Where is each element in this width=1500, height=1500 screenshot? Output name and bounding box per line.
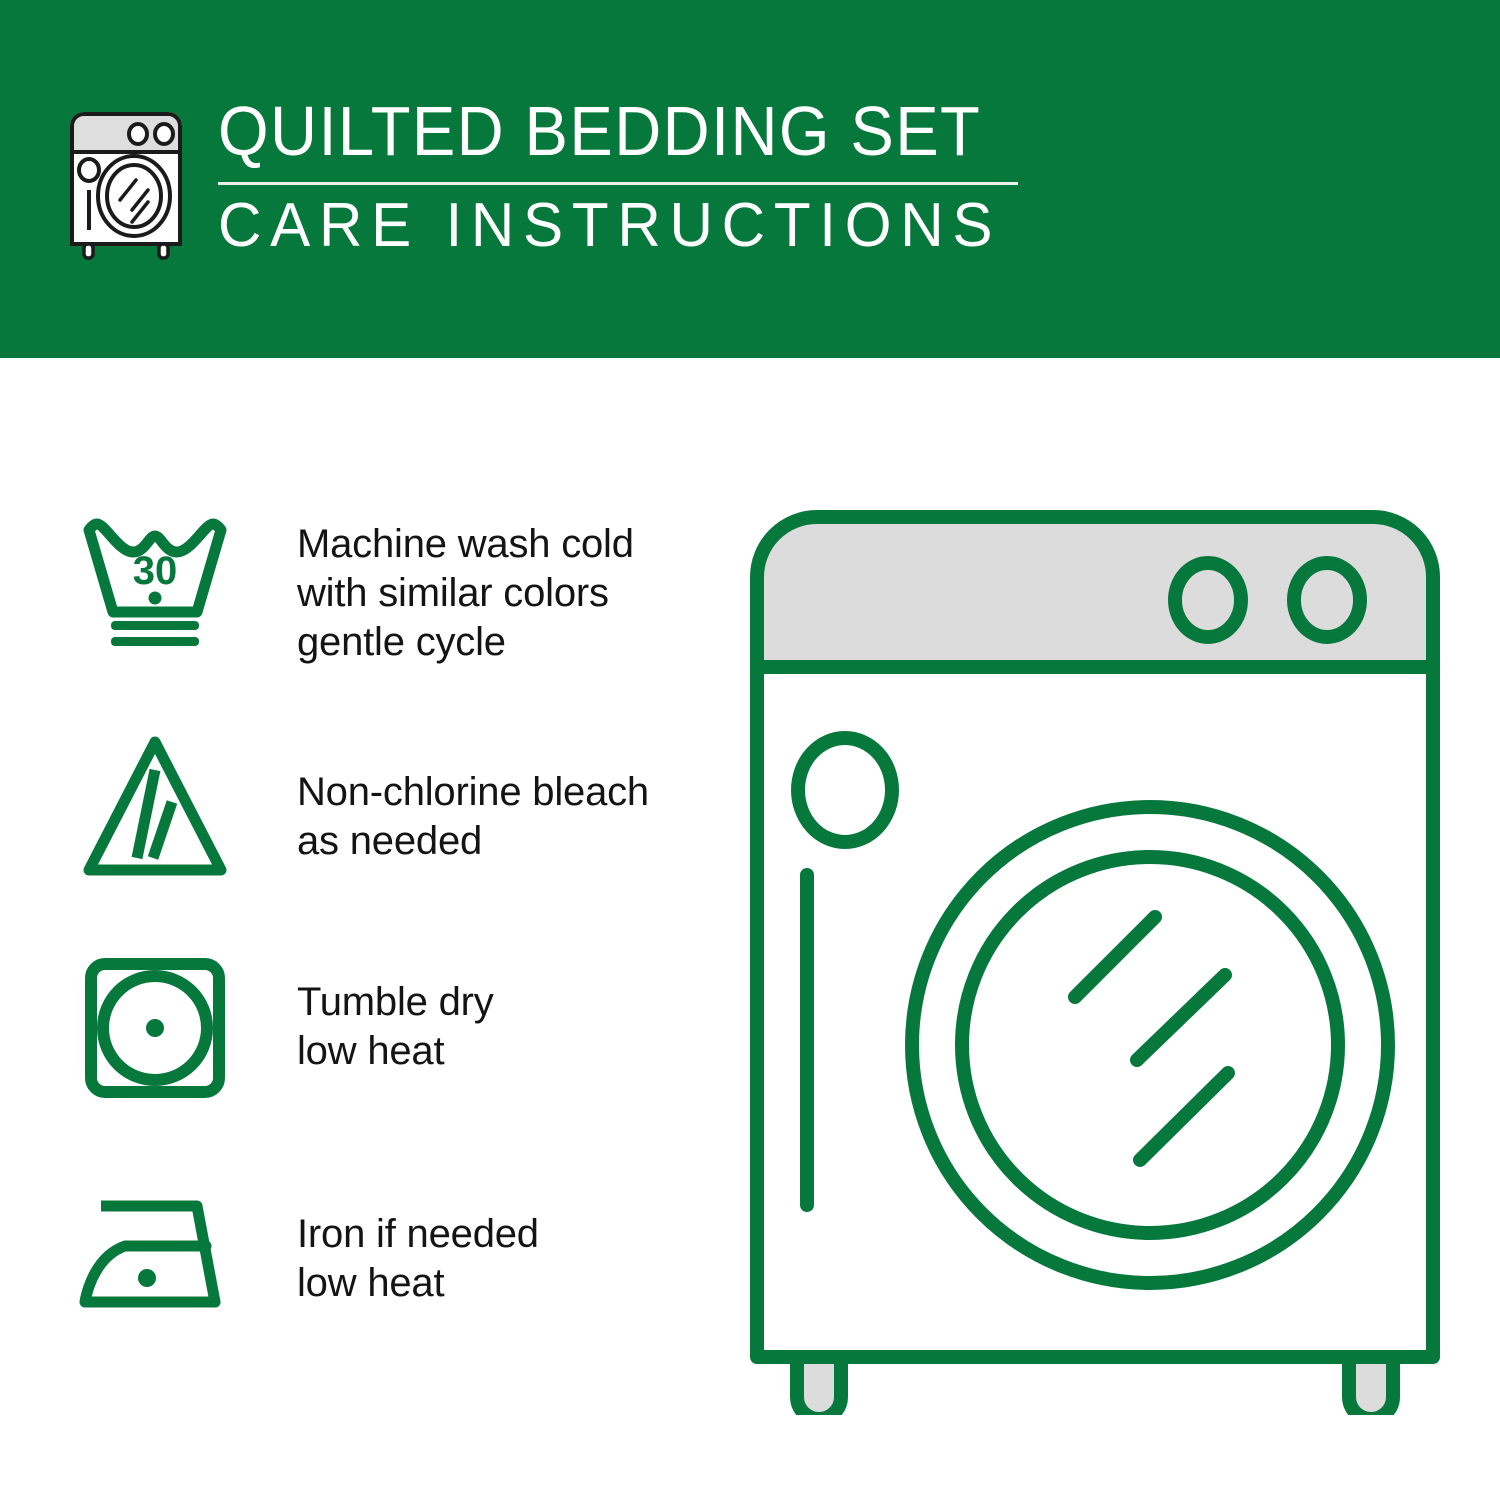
care-row-tumble-dry: Tumble dry low heat bbox=[75, 944, 735, 1166]
page-title: QUILTED BEDDING SET bbox=[218, 96, 981, 166]
care-instructions-page: QUILTED BEDDING SET CARE INSTRUCTIONS 30 bbox=[0, 0, 1500, 1500]
care-line: Machine wash cold bbox=[297, 520, 634, 569]
care-instruction-list: 30 Machine wash cold with similar colors… bbox=[75, 500, 735, 1388]
care-line: as needed bbox=[297, 817, 649, 866]
care-row-machine-wash: 30 Machine wash cold with similar colors… bbox=[75, 500, 735, 722]
bleach-triangle-icon bbox=[75, 722, 235, 890]
care-line: Non-chlorine bleach bbox=[297, 768, 649, 817]
washing-machine-icon bbox=[62, 104, 190, 266]
care-label-bleach: Non-chlorine bleach as needed bbox=[297, 722, 649, 866]
header-content: QUILTED BEDDING SET CARE INSTRUCTIONS bbox=[62, 96, 1039, 266]
care-line: low heat bbox=[297, 1027, 494, 1076]
care-line: gentle cycle bbox=[297, 618, 634, 667]
tumble-dry-low-icon bbox=[75, 944, 235, 1108]
care-label-machine-wash: Machine wash cold with similar colors ge… bbox=[297, 500, 634, 668]
care-label-iron: Iron if needed low heat bbox=[297, 1166, 539, 1308]
wash-basin-30-icon: 30 bbox=[75, 500, 235, 660]
header-title-block: QUILTED BEDDING SET CARE INSTRUCTIONS bbox=[218, 96, 1039, 257]
care-line: Iron if needed bbox=[297, 1210, 539, 1259]
care-row-bleach: Non-chlorine bleach as needed bbox=[75, 722, 735, 944]
iron-low-heat-icon bbox=[75, 1166, 235, 1344]
svg-text:30: 30 bbox=[133, 549, 178, 593]
care-row-iron: Iron if needed low heat bbox=[75, 1166, 735, 1388]
front-load-washing-machine-illustration bbox=[745, 505, 1445, 1415]
header-banner: QUILTED BEDDING SET CARE INSTRUCTIONS bbox=[0, 0, 1500, 358]
title-divider bbox=[218, 182, 1018, 185]
care-line: with similar colors bbox=[297, 569, 634, 618]
page-subtitle: CARE INSTRUCTIONS bbox=[218, 195, 1014, 257]
care-line: low heat bbox=[297, 1259, 539, 1308]
care-line: Tumble dry bbox=[297, 978, 494, 1027]
care-label-tumble-dry: Tumble dry low heat bbox=[297, 944, 494, 1076]
